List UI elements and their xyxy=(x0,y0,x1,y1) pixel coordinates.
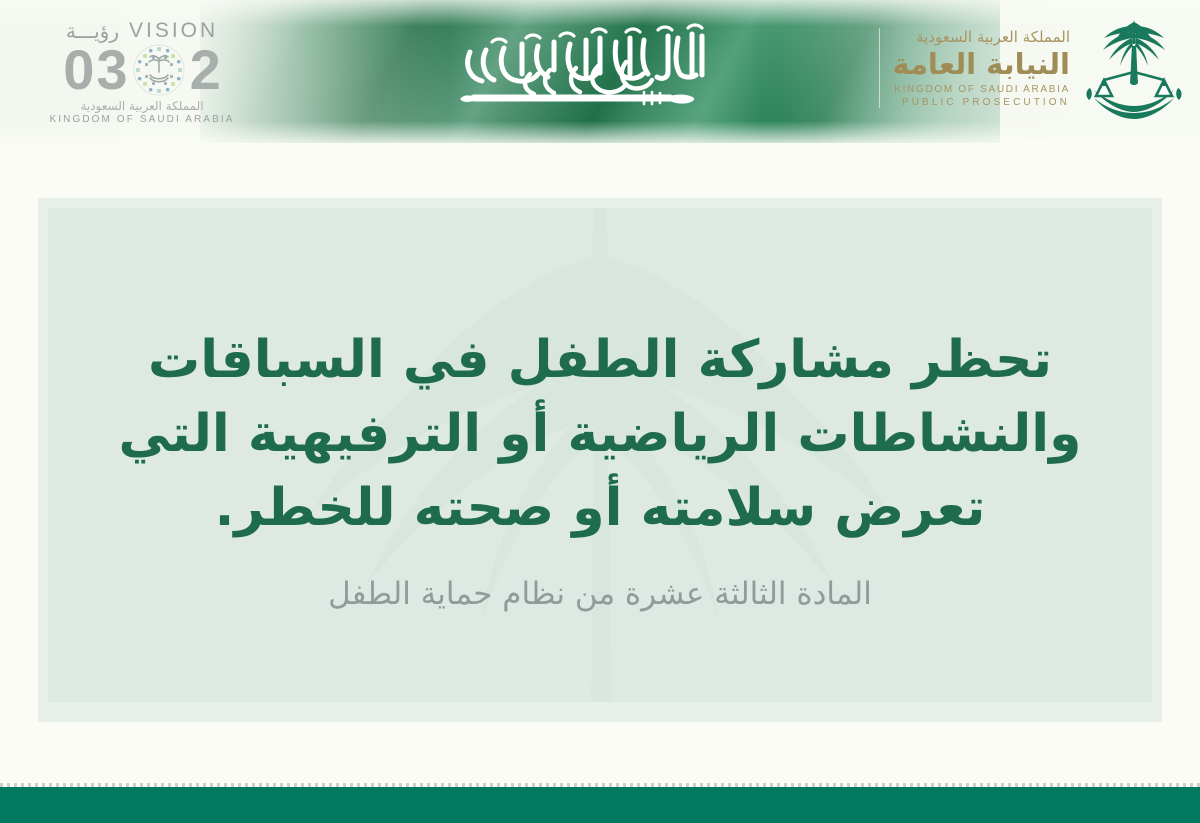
pp-name-ar: النيابة العامة xyxy=(892,47,1070,81)
vision-2030-logo: VISION رؤيـــة 2 xyxy=(44,18,240,130)
public-prosecution-logo: المملكة العربية السعودية النيابة العامة … xyxy=(879,12,1186,124)
awareness-poster: VISION رؤيـــة 2 xyxy=(0,0,1200,823)
shahada-calligraphy-icon xyxy=(430,18,730,110)
vision-kingdom-ar: المملكة العربية السعودية xyxy=(44,99,240,113)
footer-green-band xyxy=(0,787,1200,823)
message-card: تحظر مشاركة الطفل في السباقات والنشاطات … xyxy=(48,208,1152,702)
header-banner: VISION رؤيـــة 2 xyxy=(0,0,1200,143)
saudi-emblem-palm-scales-icon xyxy=(1082,12,1186,124)
vision-burst-icon xyxy=(130,42,188,98)
vision-digit-2: 2 xyxy=(190,43,221,97)
vision-kingdom-en: KINGDOM OF SAUDI ARABIA xyxy=(44,114,240,125)
pp-kingdom-ar: المملكة العربية السعودية xyxy=(892,28,1070,46)
pp-kingdom-en: KINGDOM OF SAUDI ARABIA xyxy=(892,84,1070,95)
vision-digit-3: 3 xyxy=(96,43,127,97)
message-card-frame: تحظر مشاركة الطفل في السباقات والنشاطات … xyxy=(38,198,1162,722)
poster-body: تحظر مشاركة الطفل في السباقات والنشاطات … xyxy=(0,143,1200,823)
vision-digit-0: 0 xyxy=(63,43,94,97)
footer-bar xyxy=(0,783,1200,823)
article-reference: المادة الثالثة عشرة من نظام حماية الطفل xyxy=(328,576,872,612)
headline-text: تحظر مشاركة الطفل في السباقات والنشاطات … xyxy=(85,324,1115,545)
pp-name-en: PUBLIC PROSECUTION xyxy=(892,97,1070,108)
